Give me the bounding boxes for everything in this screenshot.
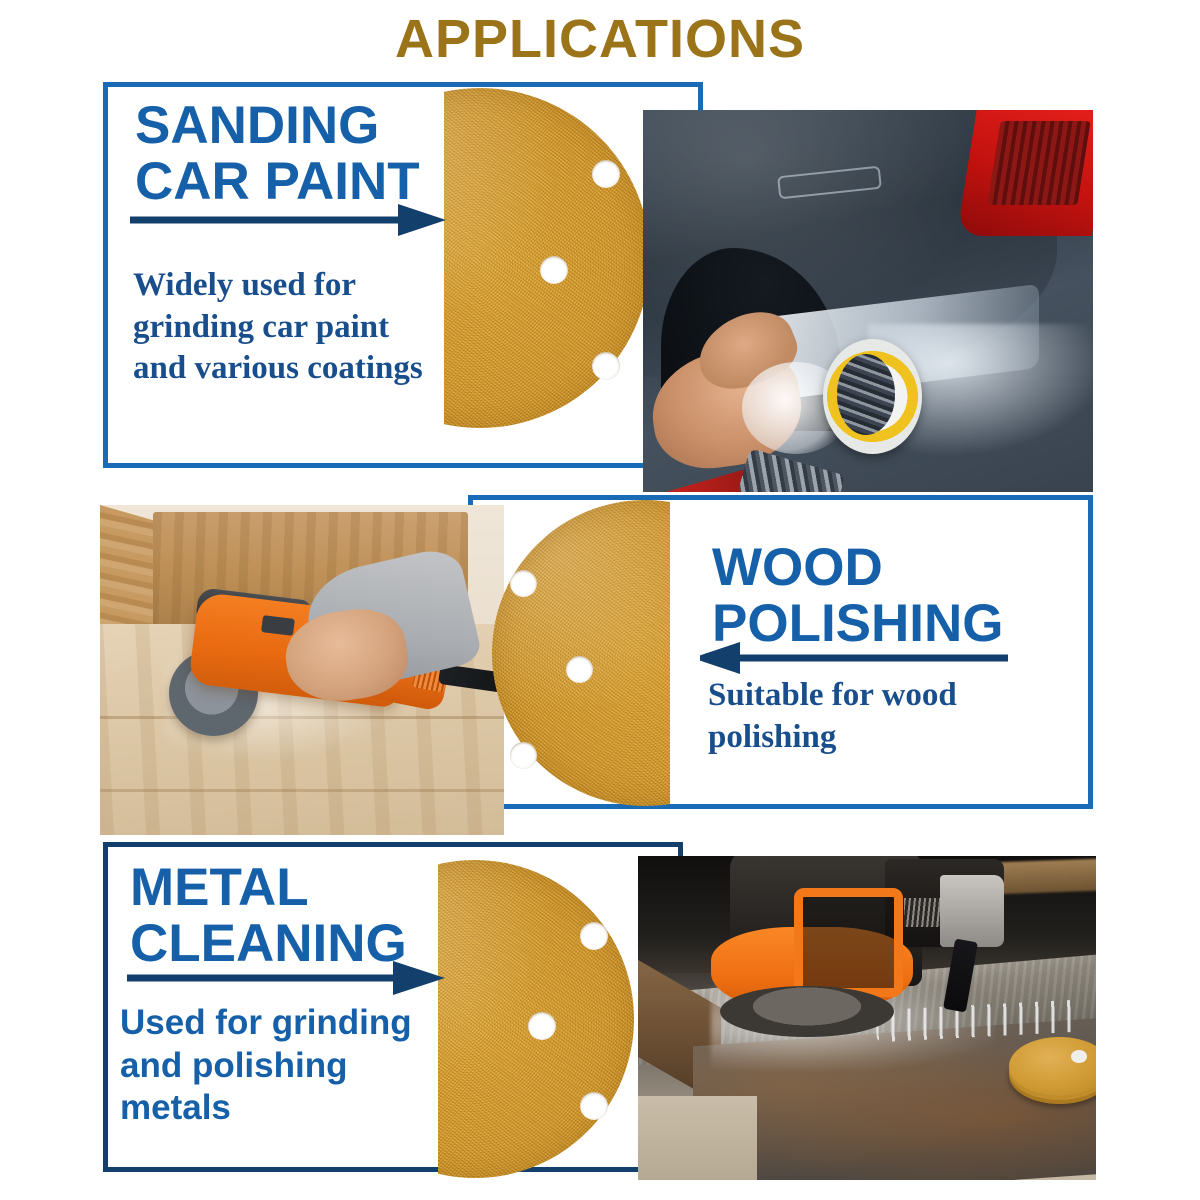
panel-3-body-text: Used for grinding and polishing metals <box>120 1002 520 1130</box>
panel-3-photo <box>638 856 1096 1180</box>
panel-metal-cleaning: METAL CLEANING Used for grinding and pol… <box>0 0 1200 1200</box>
panel-3-heading: METAL CLEANING <box>130 860 560 972</box>
panel-3-arrow-right-icon <box>125 958 445 998</box>
infographic-stage: APPLICATIONS <box>0 0 1200 1200</box>
